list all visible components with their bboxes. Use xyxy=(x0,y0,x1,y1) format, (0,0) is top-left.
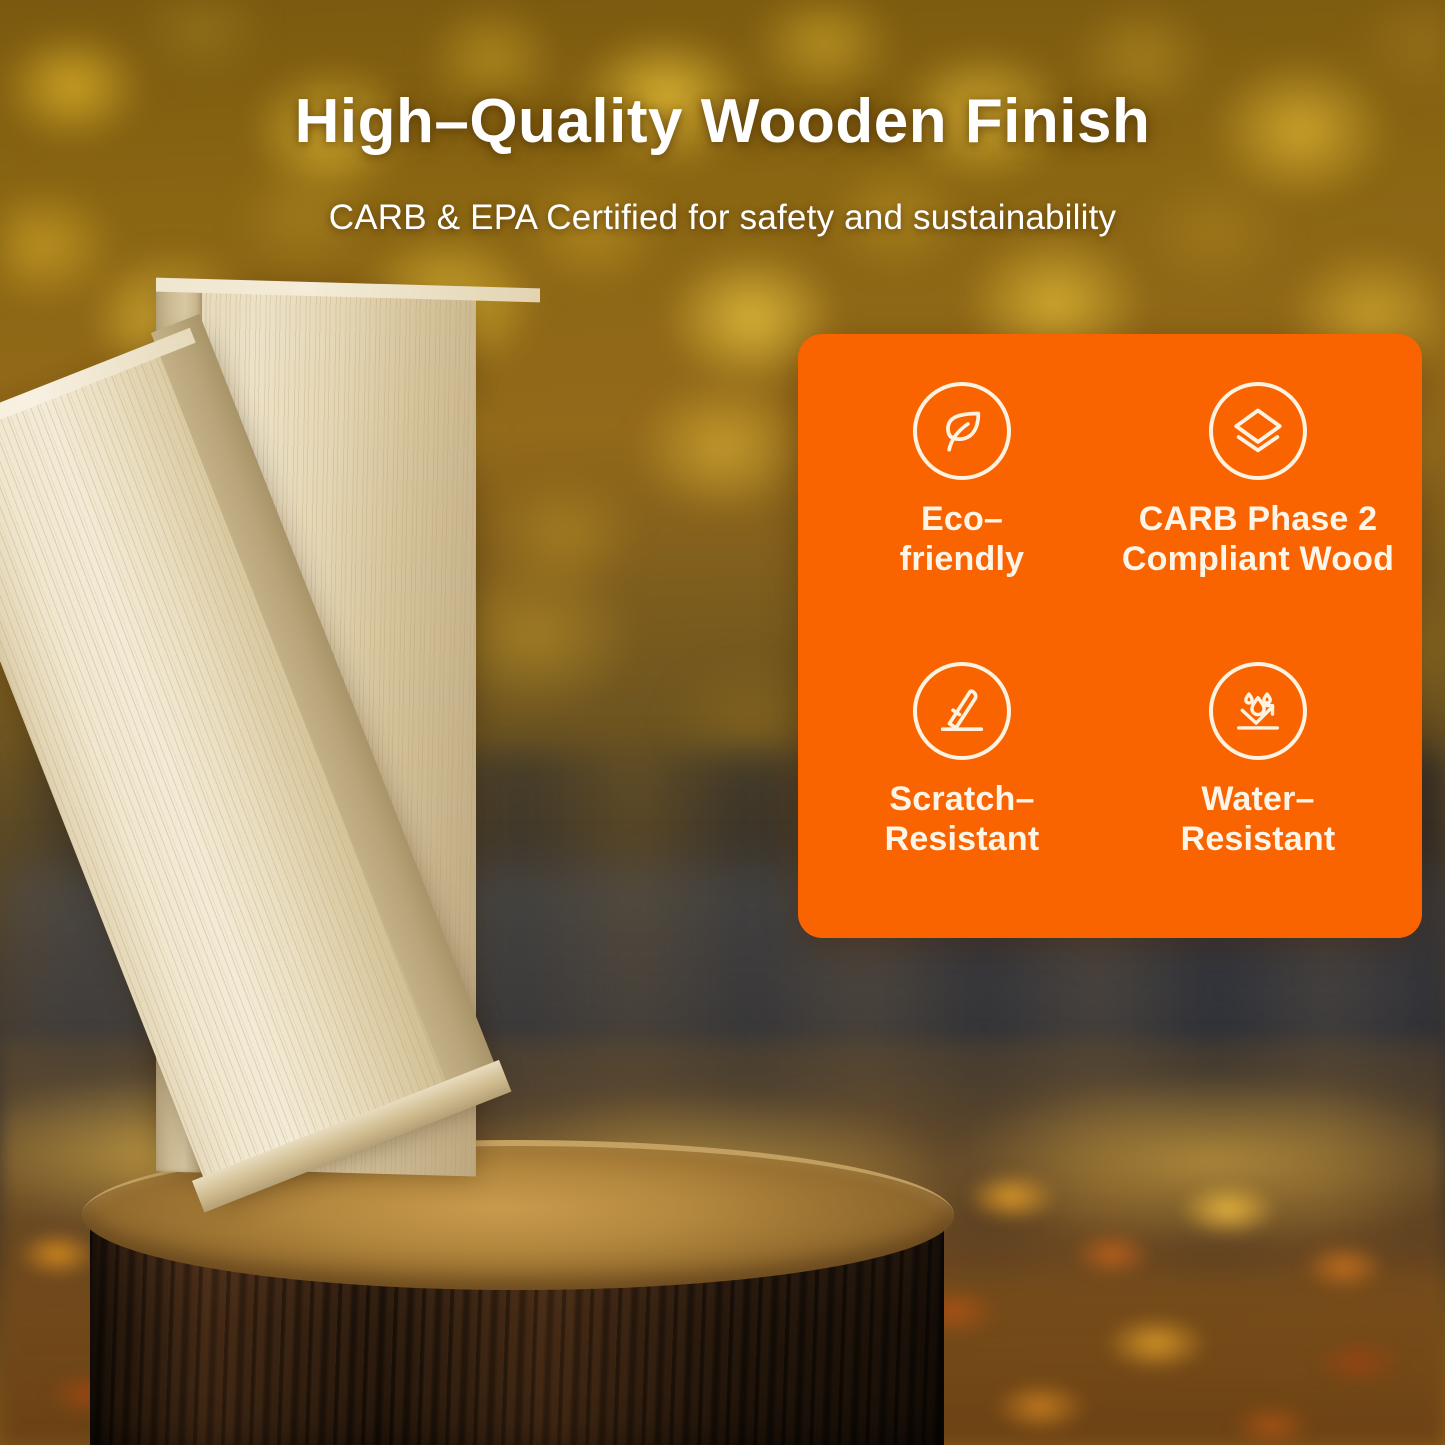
water-repel-icon xyxy=(1209,662,1307,760)
feature-eco-friendly[interactable]: Eco–friendly xyxy=(814,356,1110,636)
feature-label: Scratch–Resistant xyxy=(885,780,1040,860)
wood-board-front xyxy=(190,355,710,1185)
feature-scratch-resistant[interactable]: Scratch–Resistant xyxy=(814,636,1110,916)
product-marketing-image: High–Quality Wooden Finish CARB & EPA Ce… xyxy=(0,0,1445,1445)
feature-water-resistant[interactable]: Water–Resistant xyxy=(1110,636,1406,916)
page-title: High–Quality Wooden Finish xyxy=(0,86,1445,157)
page-subtitle: CARB & EPA Certified for safety and sust… xyxy=(0,198,1445,238)
feature-label: Water–Resistant xyxy=(1181,780,1336,860)
layers-icon xyxy=(1209,382,1307,480)
blade-icon xyxy=(913,662,1011,760)
leaf-icon xyxy=(913,382,1011,480)
feature-label: CARB Phase 2Compliant Wood xyxy=(1122,500,1394,580)
feature-panel: Eco–friendly CARB Phase 2Compliant Wood … xyxy=(798,334,1422,938)
feature-carb-phase-2[interactable]: CARB Phase 2Compliant Wood xyxy=(1110,356,1406,636)
feature-label: Eco–friendly xyxy=(900,500,1024,580)
